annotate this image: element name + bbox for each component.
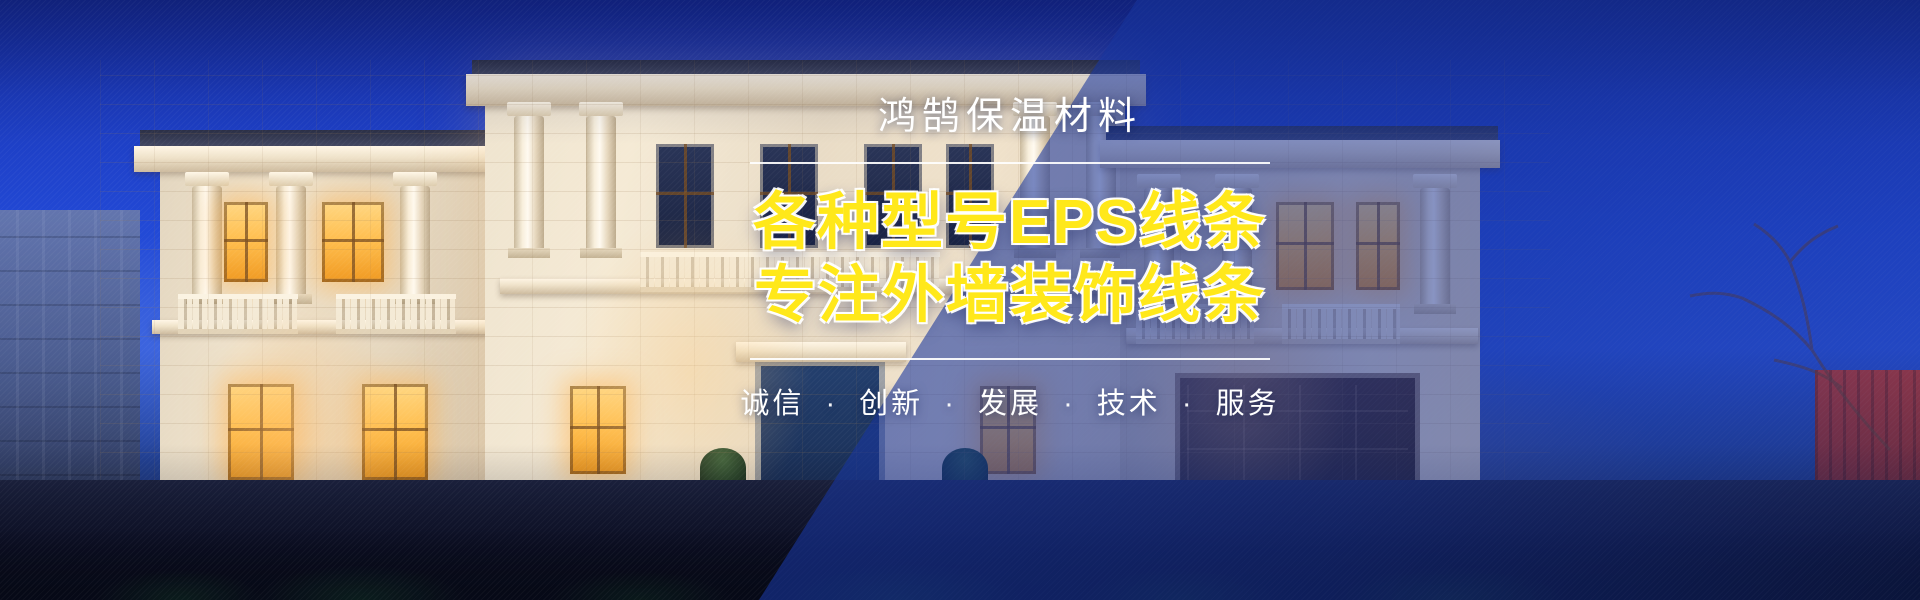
promo-banner: 鸿鹄保温材料 各种型号EPS线条 专注外墙装饰线条 诚信 · 创新 · 发展 ·… — [0, 0, 1920, 600]
tagline-separator: · — [944, 388, 957, 420]
tagline-separator: · — [1063, 388, 1076, 420]
lit-window — [1356, 202, 1400, 290]
tagline-item: 发展 — [978, 388, 1042, 420]
tagline: 诚信 · 创新 · 发展 · 技术 · 服务 — [700, 380, 1320, 422]
headline-line-2: 专注外墙装饰线条 — [700, 259, 1320, 332]
tagline-item: 技术 — [1097, 388, 1161, 420]
lit-window — [224, 202, 268, 282]
tagline-item: 创新 — [859, 388, 923, 420]
headline-line-1: 各种型号EPS线条 — [753, 188, 1267, 257]
banner-content: 鸿鹄保温材料 各种型号EPS线条 专注外墙装饰线条 诚信 · 创新 · 发展 ·… — [700, 96, 1320, 422]
tagline-separator: · — [825, 388, 838, 420]
tagline-separator: · — [1182, 388, 1195, 420]
lit-window — [570, 386, 626, 474]
column — [192, 186, 222, 304]
column — [400, 186, 430, 304]
balustrade — [178, 294, 298, 334]
lit-window — [228, 384, 294, 480]
column — [514, 116, 544, 258]
tagline-item: 诚信 — [740, 388, 804, 420]
column — [276, 186, 306, 304]
lit-window — [322, 202, 384, 282]
headline: 各种型号EPS线条 专注外墙装饰线条 — [700, 186, 1320, 332]
divider-top — [750, 162, 1270, 164]
column — [1420, 188, 1450, 314]
column — [586, 116, 616, 258]
brand-name: 鸿鹄保温材料 — [700, 96, 1320, 140]
bare-tree — [1662, 200, 1892, 460]
divider-bottom — [750, 358, 1270, 360]
tagline-item: 服务 — [1216, 388, 1280, 420]
lit-window — [362, 384, 428, 480]
hedge-row — [0, 528, 1920, 600]
left-wing-cornice — [134, 146, 516, 172]
balustrade — [336, 294, 456, 334]
